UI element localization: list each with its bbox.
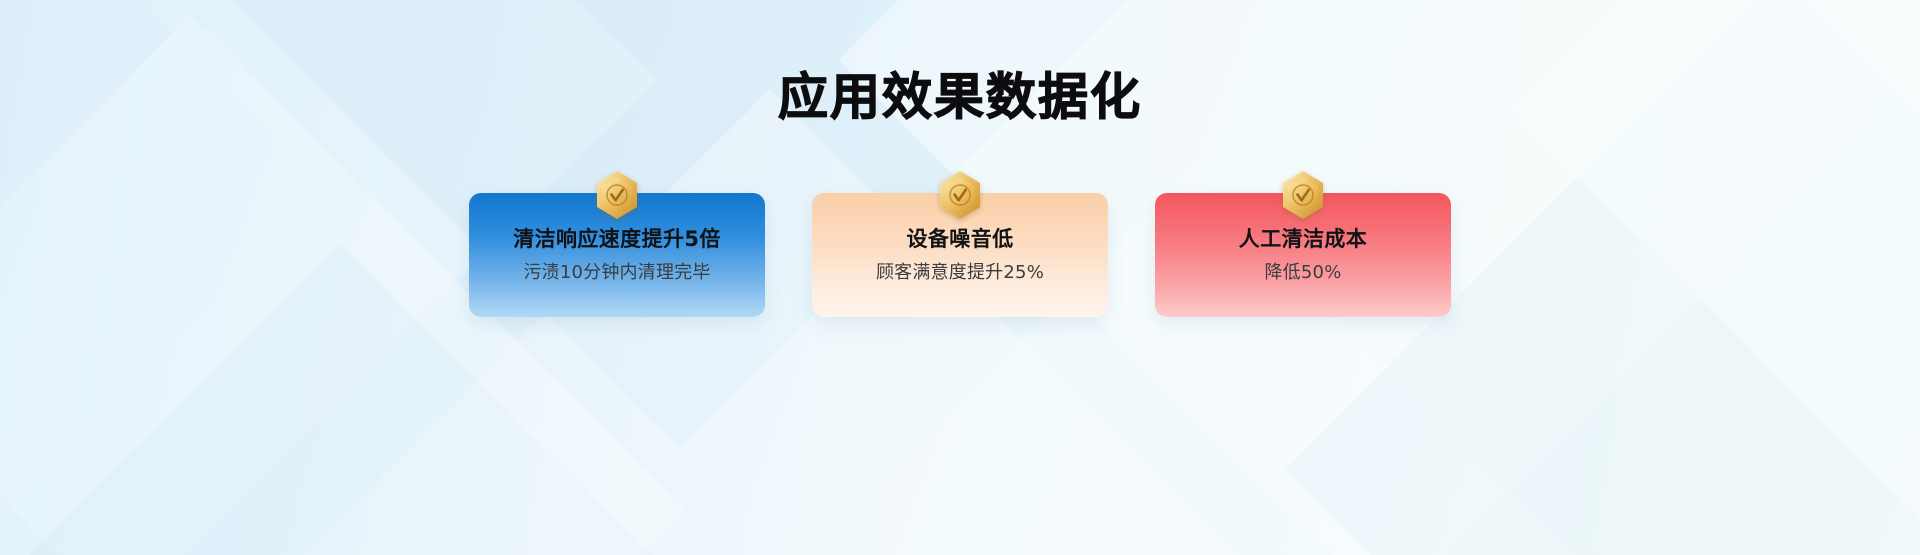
stat-card-title: 人工清洁成本 [1239,229,1367,250]
gold-hexagon-check-icon [1279,168,1327,222]
stat-card-row: 清洁响应速度提升5倍 污渍10分钟内清理完毕 [0,193,1920,317]
slide-canvas: 应用效果数据化 [0,0,1920,555]
stat-card-cleaning-response-speed[interactable]: 清洁响应速度提升5倍 污渍10分钟内清理完毕 [469,193,765,317]
gold-hexagon-check-icon [593,168,641,222]
stat-card-subtitle: 顾客满意度提升25% [876,264,1044,282]
stat-card-subtitle: 污渍10分钟内清理完毕 [523,264,710,282]
stat-card-title: 设备噪音低 [907,229,1014,250]
stat-card-subtitle: 降低50% [1264,264,1341,282]
gold-hexagon-check-icon [936,168,984,222]
background-diamond-4 [289,89,1251,555]
stat-card-equipment-noise-low[interactable]: 设备噪音低 顾客满意度提升25% [812,193,1108,317]
stat-card-title: 清洁响应速度提升5倍 [513,229,721,250]
stat-card-manual-cleaning-cost[interactable]: 人工清洁成本 降低50% [1155,193,1451,317]
page-title: 应用效果数据化 [0,72,1920,122]
